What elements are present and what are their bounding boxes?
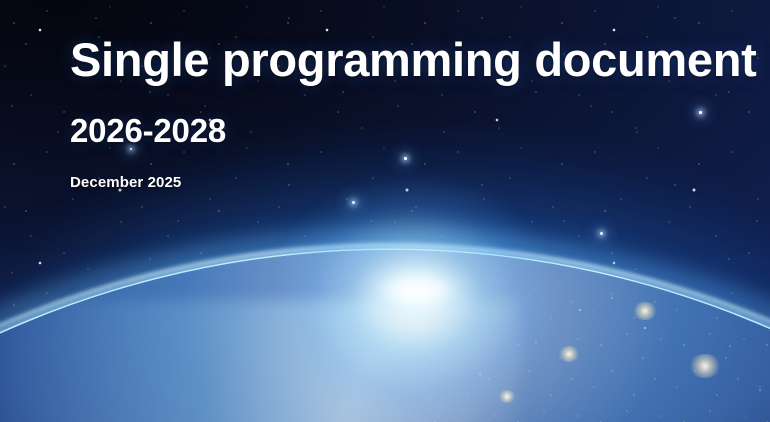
document-period: 2026-2028 [70,114,757,149]
cover-page: Single programming document 2026-2028 De… [0,0,770,422]
cover-text-block: Single programming document 2026-2028 De… [70,36,757,191]
bright-star [600,232,603,235]
sunrise-core [352,258,482,322]
page-title: Single programming document [70,36,757,85]
document-date: December 2025 [70,175,757,192]
